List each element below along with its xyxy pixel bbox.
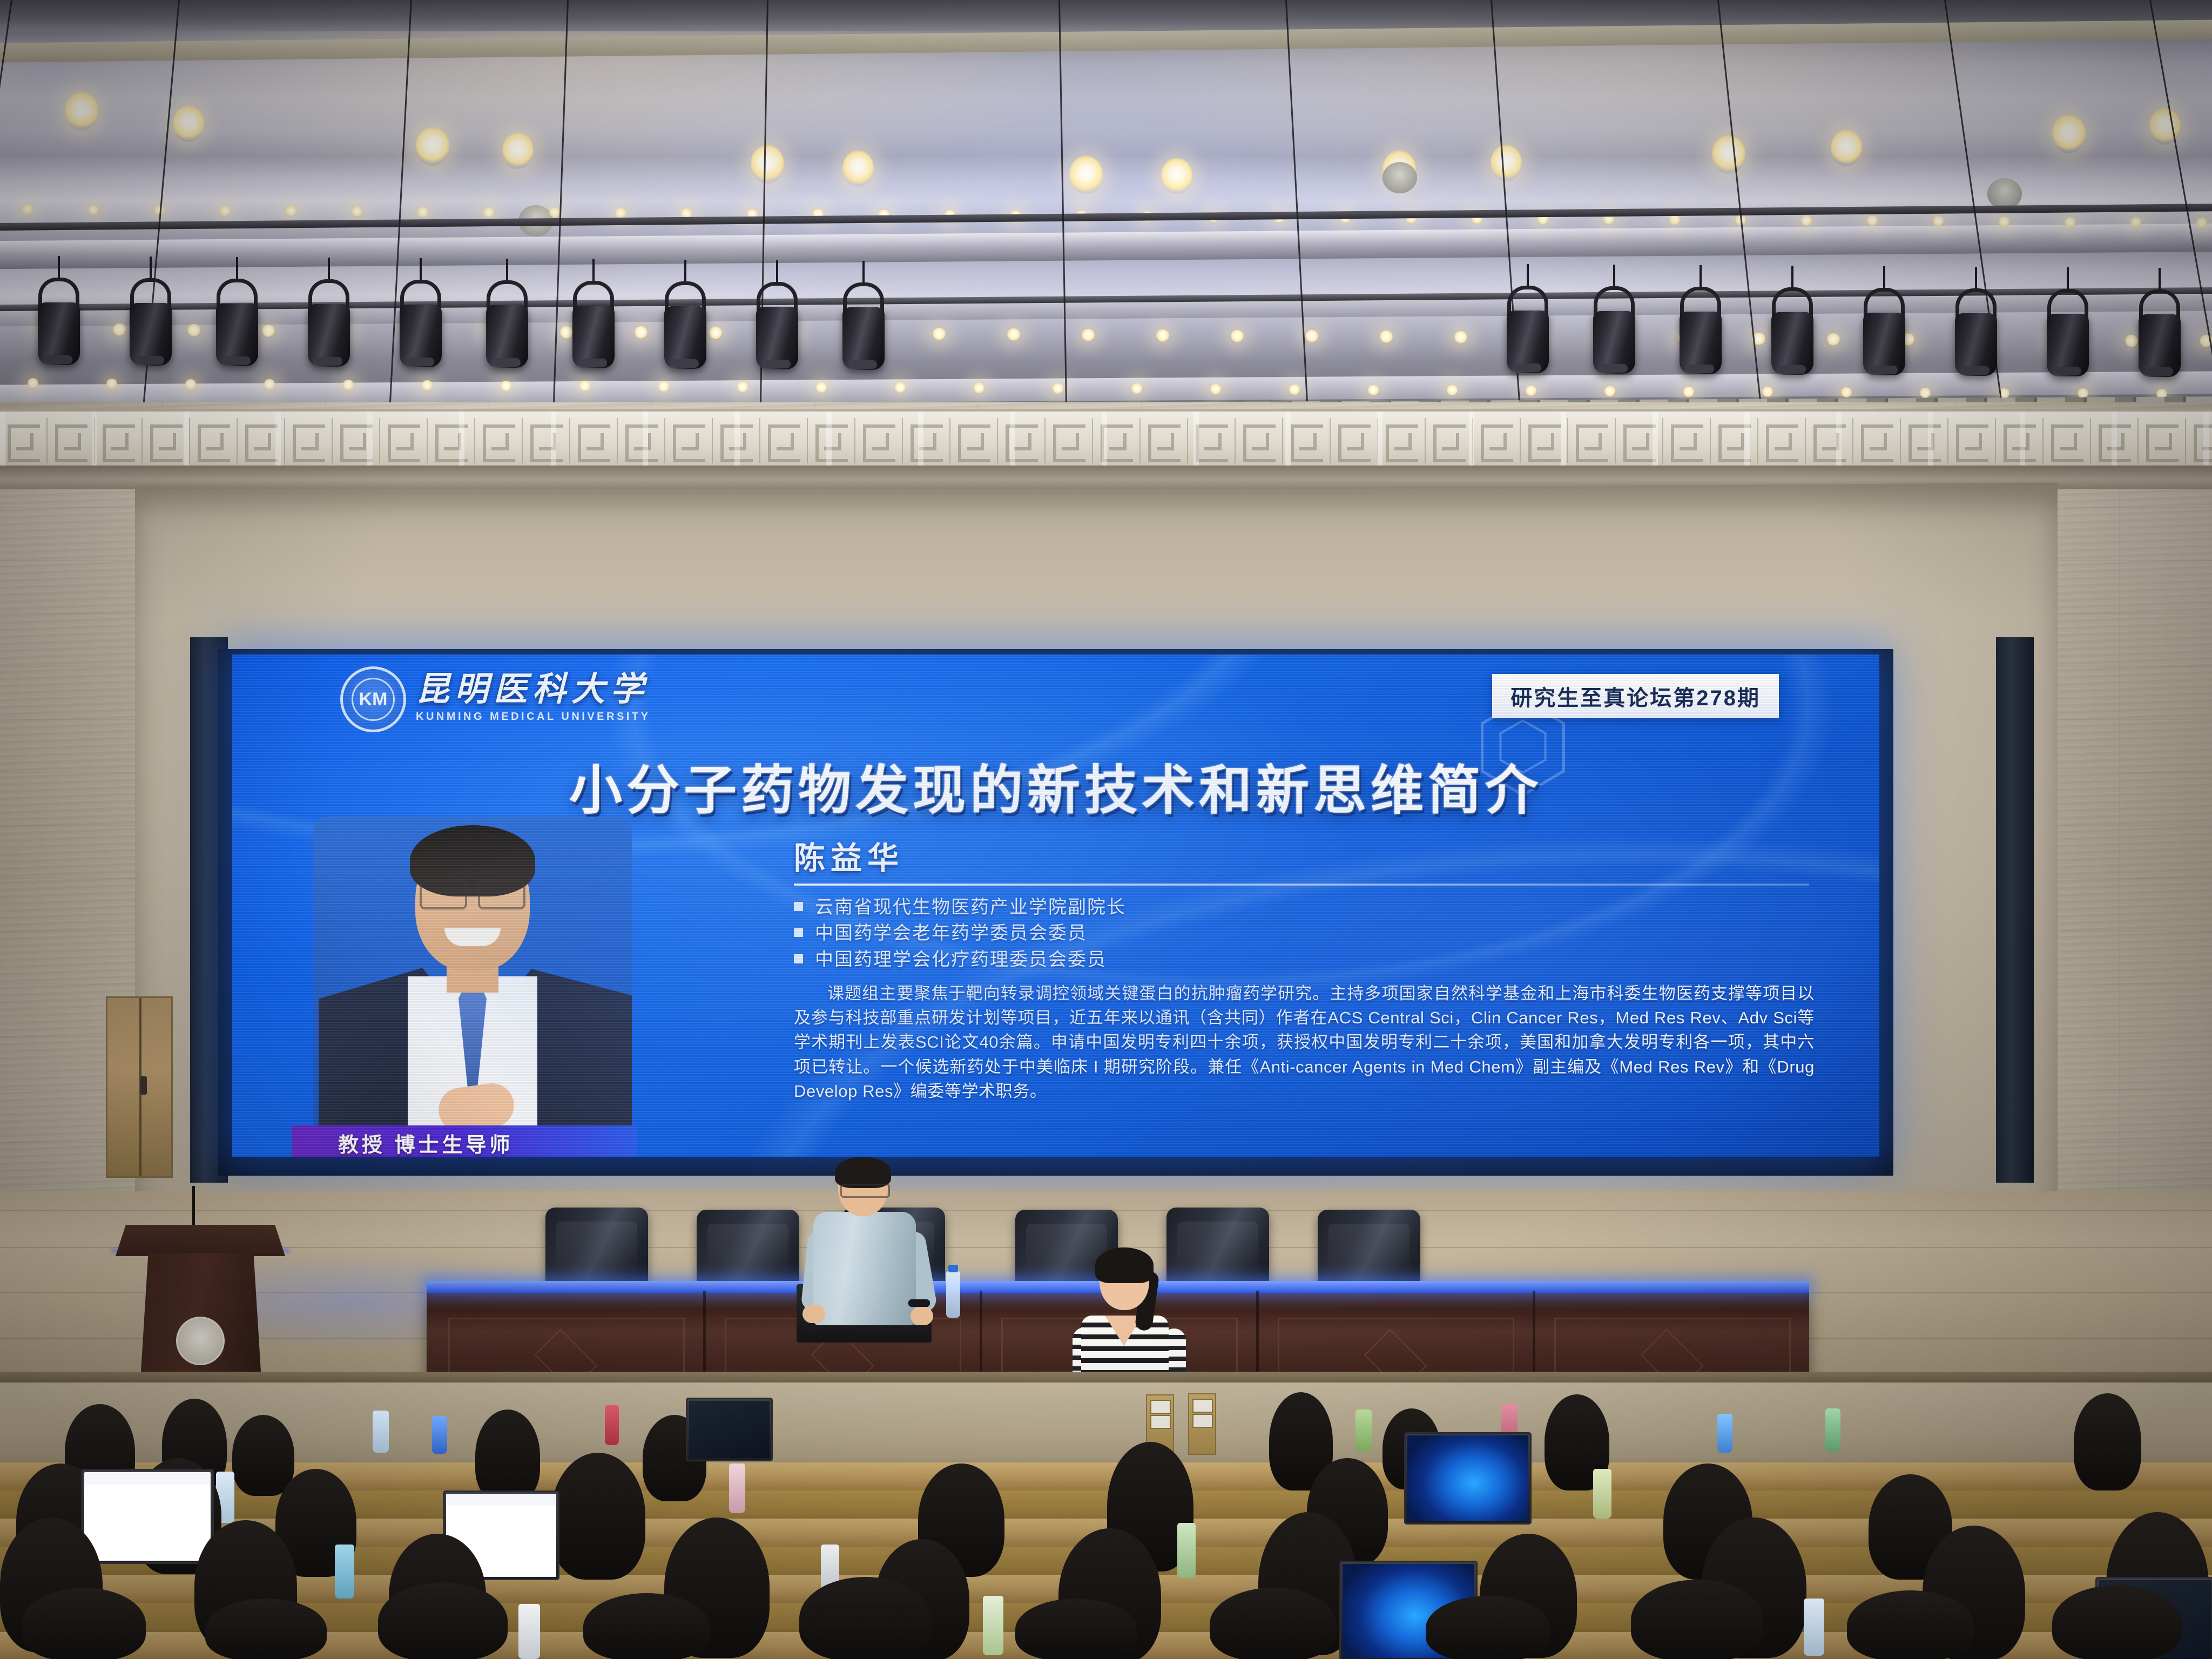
speaker-rank-text: 教授 博士生导师 (338, 1128, 514, 1157)
ceiling-downlight (1831, 130, 1862, 166)
truss-pinspot (185, 379, 197, 390)
university-logo: KM (340, 666, 406, 732)
stage-apron-wall (0, 1382, 2212, 1469)
truss-pinspot (106, 379, 118, 389)
bullet-square-icon (794, 902, 803, 911)
audience-head (2052, 1585, 2182, 1659)
speaker-credential-text: 中国药理学会化疗药理委员会委员 (815, 947, 1107, 973)
stage-par-light (216, 304, 258, 368)
portrait-glasses-icon (420, 880, 525, 908)
truss-pinspot (351, 206, 363, 217)
truss-pinspot (1683, 387, 1695, 397)
stage-par-light (38, 302, 80, 367)
laptop-screen (84, 1472, 211, 1561)
stage-par-light (1507, 311, 1549, 375)
truss-pinspot (1367, 385, 1379, 396)
audience-head (2074, 1393, 2141, 1491)
ceiling-downlight (842, 150, 874, 187)
stage-par-light (572, 306, 615, 370)
stage-par-light (756, 307, 798, 372)
stage-par-light (1955, 313, 1997, 378)
audience-head (232, 1415, 294, 1496)
truss-pinspot (737, 382, 748, 393)
speaker-portrait-photo (313, 817, 632, 1135)
stage-par-light (486, 305, 528, 370)
audience-water-bottle (518, 1604, 540, 1659)
ceiling-downlight (2052, 114, 2086, 153)
truss-pinspot (1230, 330, 1244, 343)
university-seal-icon (176, 1317, 225, 1365)
truss-pinspot (483, 207, 495, 218)
audience-water-bottle (1804, 1599, 1824, 1656)
stage-par-light (664, 306, 706, 371)
speaker-credential-item: 中国药理学会化疗药理委员会委员 (794, 947, 1820, 973)
audience-laptop[interactable] (686, 1398, 773, 1461)
truss-pinspot (2064, 217, 2076, 228)
audience-head (1210, 1588, 1337, 1659)
stage-par-light (1771, 312, 1813, 377)
speaker-info-block: 陈益华 云南省现代生物医药产业学院副院长中国药学会老年药学委员会委员中国药理学会… (794, 833, 1820, 1103)
ceiling-downlight (2149, 108, 2181, 145)
wall-outlet[interactable] (1188, 1393, 1216, 1455)
truss-pinspot (1840, 387, 1852, 398)
stage-door-left[interactable] (106, 996, 173, 1178)
truss-pinspot (261, 325, 275, 338)
speaker-credential-text: 中国药学会老年药学委员会委员 (815, 920, 1087, 946)
stage-par-light (308, 304, 350, 369)
university-name-cn: 昆明医科大学 (416, 673, 650, 706)
truss-pinspot (1800, 215, 1812, 226)
audience-water-bottle (729, 1464, 745, 1513)
audience-head (1426, 1596, 1550, 1659)
audience-water-bottle (1825, 1408, 1840, 1452)
truss-pinspot (1081, 329, 1095, 342)
speaker-credential-item: 中国药学会老年药学委员会委员 (794, 920, 1820, 946)
truss-pinspot (187, 324, 201, 337)
audience-water-bottle (983, 1596, 1003, 1655)
speaker-rank-bar: 教授 博士生导师 (292, 1125, 637, 1157)
audience-water-bottle (335, 1545, 354, 1599)
ceiling-downlight (1491, 145, 1522, 181)
audience-water-bottle (1177, 1523, 1196, 1578)
university-name-en: KUNMING MEDICAL UNIVERSITY (416, 711, 650, 723)
audience-head (1015, 1599, 1137, 1659)
speaker-credential-item: 云南省现代生物医药产业学院副院长 (794, 894, 1820, 920)
audience-water-bottle (1717, 1414, 1732, 1453)
audience-laptop[interactable] (1404, 1432, 1532, 1525)
audience-laptop[interactable] (81, 1469, 214, 1564)
audience-water-bottle (1593, 1469, 1611, 1519)
ceiling (0, 0, 2212, 410)
screen-pillar-right (1996, 637, 2034, 1183)
bullet-square-icon (794, 954, 803, 963)
truss-pinspot (1525, 386, 1537, 396)
university-name-block: 昆明医科大学 KUNMING MEDICAL UNIVERSITY (416, 673, 650, 723)
stage-technician (799, 1160, 934, 1338)
truss-pinspot (219, 206, 231, 217)
audience-head (799, 1577, 932, 1659)
truss-pinspot (1052, 383, 1064, 394)
audience-head (378, 1582, 508, 1659)
truss-pinspot (417, 207, 429, 218)
audience-water-bottle (1355, 1410, 1372, 1452)
led-video-wall[interactable]: KM 昆明医科大学 KUNMING MEDICAL UNIVERSITY 研究生… (232, 655, 1879, 1165)
audience-seating (0, 1382, 2212, 1659)
truss-pinspot (1826, 333, 1840, 346)
truss-pinspot (500, 381, 512, 392)
truss-pinspot (973, 383, 985, 394)
presentation-slide[interactable]: KM 昆明医科大学 KUNMING MEDICAL UNIVERSITY 研究生… (232, 655, 1879, 1157)
audience-head (205, 1599, 327, 1659)
university-logo-mark: KM (352, 678, 395, 721)
truss-pinspot (2125, 335, 2139, 348)
laptop-screen (689, 1401, 770, 1458)
stage-par-light (1593, 311, 1635, 376)
stage-par-light (1863, 313, 1905, 377)
forum-series-badge: 研究生至真论坛第278期 (1492, 674, 1779, 718)
stage-par-light (2139, 314, 2181, 379)
ceiling-vent-disc (1382, 162, 1417, 193)
truss-pinspot (1604, 386, 1616, 397)
audience-head (583, 1593, 710, 1659)
speaker-credentials-list: 云南省现代生物医药产业学院副院长中国药学会老年药学委员会委员中国药理学会化疗药理… (794, 894, 1820, 973)
auditorium-photo: KM 昆明医科大学 KUNMING MEDICAL UNIVERSITY 研究生… (0, 0, 2212, 1659)
ceiling-downlight (416, 127, 449, 166)
ceiling-downlight (1069, 156, 1103, 194)
stage-par-light (130, 303, 172, 368)
laptop-screen (1407, 1435, 1528, 1521)
truss-pinspot (421, 380, 433, 391)
greek-key-frieze (0, 409, 2212, 472)
water-bottle (946, 1271, 960, 1318)
bullet-square-icon (794, 928, 803, 937)
ceiling-downlight (502, 132, 534, 169)
truss-pinspot (87, 205, 99, 215)
audience-water-bottle (605, 1405, 619, 1445)
ceiling-downlight (1161, 158, 1192, 194)
slide-title: 小分子药物发现的新技术和新思维简介 (232, 747, 1879, 824)
lectern-microphone (192, 1186, 195, 1228)
frieze-gloss (0, 412, 2212, 470)
stage-par-light (842, 307, 885, 372)
ceiling-downlight (173, 105, 204, 142)
ceiling-downlight (65, 92, 98, 131)
audience-head (551, 1453, 645, 1580)
speaker-name: 陈益华 (794, 833, 1820, 878)
stage-par-light (1680, 312, 1722, 376)
audience-head (22, 1588, 146, 1659)
speaker-biography: 课题组主要聚焦于靶向转录调控领域关键蛋白的抗肿瘤药学研究。主持多项国家自然科学基… (794, 981, 1815, 1103)
ceiling-downlight (751, 145, 784, 184)
speaker-divider (794, 884, 1809, 886)
ceiling-downlight (1712, 135, 1745, 174)
truss-pinspot (658, 381, 670, 392)
audience-head (1631, 1580, 1763, 1659)
truss-pinspot (815, 382, 827, 393)
truss-pinspot (559, 326, 574, 339)
truss-pinspot (1379, 331, 1393, 343)
audience-water-bottle (373, 1411, 389, 1453)
truss-pinspot (1156, 329, 1170, 342)
stage-par-light (2047, 314, 2089, 379)
audience-head (475, 1410, 540, 1502)
stage-par-light (400, 305, 442, 369)
speaker-credential-text: 云南省现代生物医药产业学院副院长 (815, 894, 1126, 920)
truss-pinspot (1919, 388, 1931, 399)
truss-pinspot (1454, 331, 1468, 344)
truss-pinspot (1998, 217, 2010, 227)
audience-water-bottle (432, 1416, 447, 1454)
technician-glasses-icon (840, 1184, 890, 1198)
truss-pinspot (1289, 385, 1300, 395)
ceiling-vent-disc (1987, 178, 2022, 210)
audience-head (1847, 1590, 1974, 1659)
truss-pinspot (112, 323, 126, 336)
